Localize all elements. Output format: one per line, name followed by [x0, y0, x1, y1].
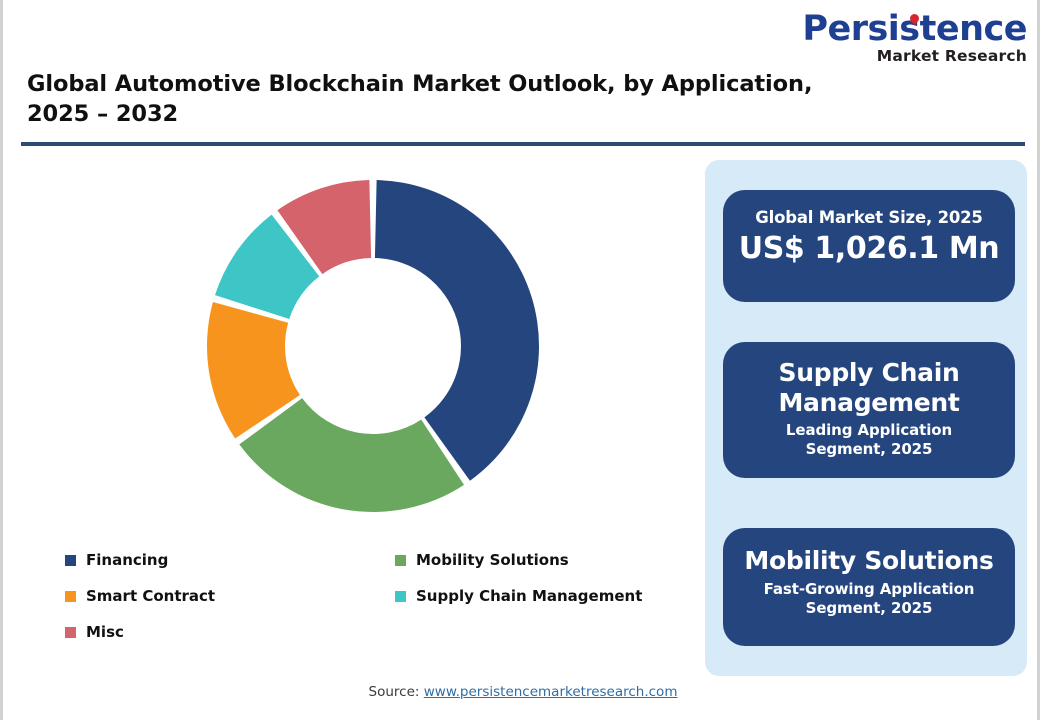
legend-item-financing[interactable]: Financing	[65, 551, 395, 569]
donut-slice-group	[207, 180, 539, 512]
legend-item-mobility-solutions[interactable]: Mobility Solutions	[395, 551, 685, 569]
logo-subtitle: Market Research	[797, 49, 1027, 65]
page-title-line-1: Global Automotive Blockchain Market Outl…	[27, 70, 887, 100]
page-title: Global Automotive Blockchain Market Outl…	[27, 70, 887, 129]
donut-chart	[205, 178, 541, 514]
infographic-page: Persistence Market Research Global Autom…	[0, 0, 1040, 720]
fastest-segment-card: Mobility Solutions Fast-Growing Applicat…	[723, 528, 1015, 646]
source-footer: Source: www.persistencemarketresearch.co…	[3, 684, 1040, 700]
title-divider	[21, 142, 1025, 146]
leading-segment-card: Supply Chain Management Leading Applicat…	[723, 342, 1015, 478]
legend-row: FinancingMobility Solutions	[65, 542, 685, 578]
fastest-segment-sub-line-2: Segment, 2025	[723, 599, 1015, 618]
legend-row: Smart ContractSupply Chain Management	[65, 578, 685, 614]
legend-item-smart-contract[interactable]: Smart Contract	[65, 587, 395, 605]
legend-swatch-icon	[65, 555, 76, 566]
leading-segment-heading-line-2: Management	[723, 388, 1015, 418]
legend-label: Smart Contract	[86, 587, 215, 605]
source-link[interactable]: www.persistencemarketresearch.com	[424, 684, 678, 700]
legend-swatch-icon	[395, 555, 406, 566]
chart-legend: FinancingMobility SolutionsSmart Contrac…	[65, 542, 685, 650]
legend-item-misc[interactable]: Misc	[65, 623, 395, 641]
fastest-segment-sub-line-1: Fast-Growing Application	[723, 580, 1015, 599]
legend-label: Supply Chain Management	[416, 587, 642, 605]
logo-wordmark: Persistence	[802, 12, 1027, 47]
market-size-card: Global Market Size, 2025 US$ 1,026.1 Mn	[723, 190, 1015, 302]
legend-swatch-icon	[395, 591, 406, 602]
legend-label: Mobility Solutions	[416, 551, 569, 569]
legend-swatch-icon	[65, 627, 76, 638]
header: Persistence Market Research Global Autom…	[3, 0, 1040, 146]
leading-segment-sub-line-1: Leading Application	[723, 421, 1015, 440]
market-size-value: US$ 1,026.1 Mn	[723, 230, 1015, 268]
legend-item-supply-chain-management[interactable]: Supply Chain Management	[395, 587, 685, 605]
company-logo: Persistence Market Research	[797, 12, 1027, 65]
market-size-caption: Global Market Size, 2025	[723, 208, 1015, 228]
legend-swatch-icon	[65, 591, 76, 602]
source-label: Source:	[369, 684, 424, 700]
highlights-panel: Global Market Size, 2025 US$ 1,026.1 Mn …	[705, 160, 1027, 676]
leading-segment-sub-line-2: Segment, 2025	[723, 440, 1015, 459]
page-title-line-2: 2025 – 2032	[27, 100, 887, 130]
legend-label: Misc	[86, 623, 124, 641]
legend-label: Financing	[86, 551, 168, 569]
legend-row: Misc	[65, 614, 685, 650]
fastest-segment-heading: Mobility Solutions	[723, 546, 1015, 576]
leading-segment-heading-line-1: Supply Chain	[723, 358, 1015, 388]
chart-area: FinancingMobility SolutionsSmart Contrac…	[3, 150, 693, 670]
